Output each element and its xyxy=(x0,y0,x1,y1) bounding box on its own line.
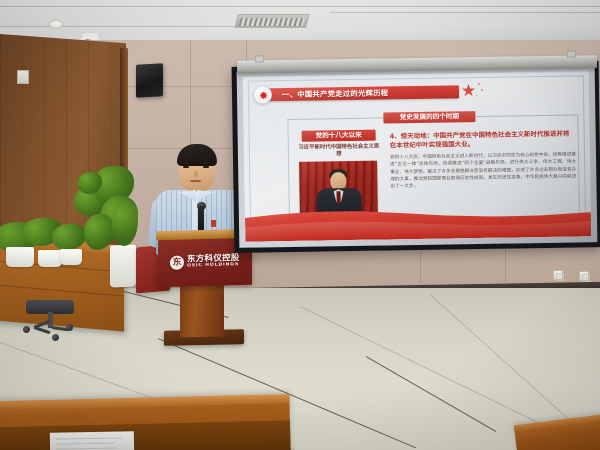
section-heading-badge: 党史发展的四个时期 xyxy=(383,111,475,123)
wall-speaker-icon xyxy=(136,63,163,97)
screen-bracket xyxy=(255,55,264,62)
potted-plant-pot xyxy=(6,247,34,267)
presentation-slide: 一、中国共产党走过的光辉历程 ✹ ★ 党史发展的四个时期 xyxy=(243,71,592,241)
power-outlet-icon[interactable] xyxy=(579,271,589,281)
slide-title: 一、中国共产党走过的光辉历程 xyxy=(282,87,455,100)
tall-plant-pot xyxy=(110,245,136,288)
podium-column xyxy=(180,285,224,338)
projector-screen: 一、中国共产党走过的光辉历程 ✹ ★ 党史发展的四个时期 xyxy=(232,61,600,253)
company-name-en: OSIC HOLDINGS xyxy=(187,262,251,270)
screen-surface: 一、中国共产党走过的光辉历程 ✹ ★ 党史发展的四个时期 xyxy=(237,66,598,248)
lapel-badge xyxy=(211,220,216,227)
photo-scene: 一、中国共产党走过的光辉历程 ✹ ★ 党史发展的四个时期 xyxy=(0,0,600,450)
star-icon: ★ xyxy=(461,82,483,100)
screen-bracket xyxy=(567,51,576,58)
conference-table xyxy=(0,394,291,450)
chair-wheel xyxy=(23,326,30,333)
power-outlet-icon[interactable] xyxy=(553,270,563,280)
presenter-nose xyxy=(194,171,198,177)
papers-on-table xyxy=(50,431,134,450)
sub-heading-text: 党的十八大以来 xyxy=(302,130,376,142)
logo-mark: 东 xyxy=(170,257,184,269)
chair-wheel xyxy=(52,334,59,341)
section-heading-text: 党史发展的四个时期 xyxy=(383,111,475,123)
sub-heading-badge: 党的十八大以来 xyxy=(302,130,376,142)
sub-heading-caption: 习近平新时代中国特色社会主义思想 xyxy=(296,144,382,159)
potted-plant-pot xyxy=(60,249,82,265)
party-emblem-icon: ✹ xyxy=(253,85,272,104)
office-chair[interactable] xyxy=(22,300,80,344)
downlight-icon xyxy=(48,20,64,29)
light-switch-icon[interactable] xyxy=(17,70,29,84)
slide-lead-paragraph: 4、惊天动地：中国共产党在中国特色社会主义新时代推进并将在本世纪中叶实现强国大业… xyxy=(390,129,576,150)
air-vent-icon xyxy=(234,14,310,28)
potted-plant-pot xyxy=(38,250,62,267)
chair-wheel xyxy=(66,324,73,331)
slide-body-paragraph: 党的十八大后，中国特色社会主义进入新时代，以习近平同志为核心的党中央，统筹推进推… xyxy=(390,151,577,190)
company-logo-icon: 东 xyxy=(170,256,184,270)
